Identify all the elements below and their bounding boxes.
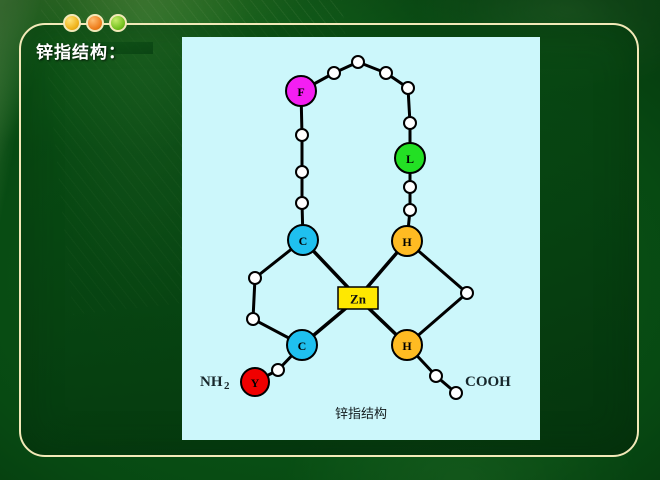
residue-label-l: L [406,152,414,166]
dot-green-icon [109,14,127,32]
label-layer: ZnFLCHCHYNH2COOH [200,85,511,392]
backbone-bead [249,272,261,284]
terminal-nh2: NH2 [200,374,230,392]
node-layer [241,56,473,399]
backbone-bead [404,204,416,216]
backbone-bead [328,67,340,79]
backbone-bead [296,129,308,141]
backbone-bead [380,67,392,79]
slide-title: 锌指结构： [36,38,126,63]
backbone-bead [272,364,284,376]
terminal-label-nh2: NH [200,374,223,390]
backbone-bead [247,313,259,325]
residue-label-h2: H [402,339,412,353]
terminal-subscript-nh2: 2 [224,380,230,392]
residue-label-y: Y [251,376,260,390]
backbone-bead [404,117,416,129]
diagram-caption: 锌指结构 [182,403,540,422]
residue-label-h1: H [402,235,412,249]
backbone-bead [461,287,473,299]
terminal-label-cooh: COOH [465,374,511,390]
diagram-panel: ZnFLCHCHYNH2COOH 锌指结构 [182,37,540,440]
terminal-cooh: COOH [465,374,511,390]
dot-orange-icon [86,14,104,32]
backbone-bead [296,197,308,209]
slide-root: 锌指结构： ZnFLCHCHYNH2COOH 锌指结构 [0,0,660,480]
residue-label-c1: C [299,234,308,248]
backbone-bead [450,387,462,399]
backbone-bead [296,166,308,178]
bond-layer [253,62,467,393]
backbone-bead [430,370,442,382]
dot-yellow-icon [63,14,81,32]
residue-label-c2: C [298,339,307,353]
backbone-bead [402,82,414,94]
zinc-finger-diagram: ZnFLCHCHYNH2COOH [182,37,540,440]
zinc-ion-label: Zn [350,292,367,307]
decorative-dots [63,14,127,32]
backbone-bead [352,56,364,68]
backbone-bead [404,181,416,193]
residue-label-f: F [297,85,304,99]
